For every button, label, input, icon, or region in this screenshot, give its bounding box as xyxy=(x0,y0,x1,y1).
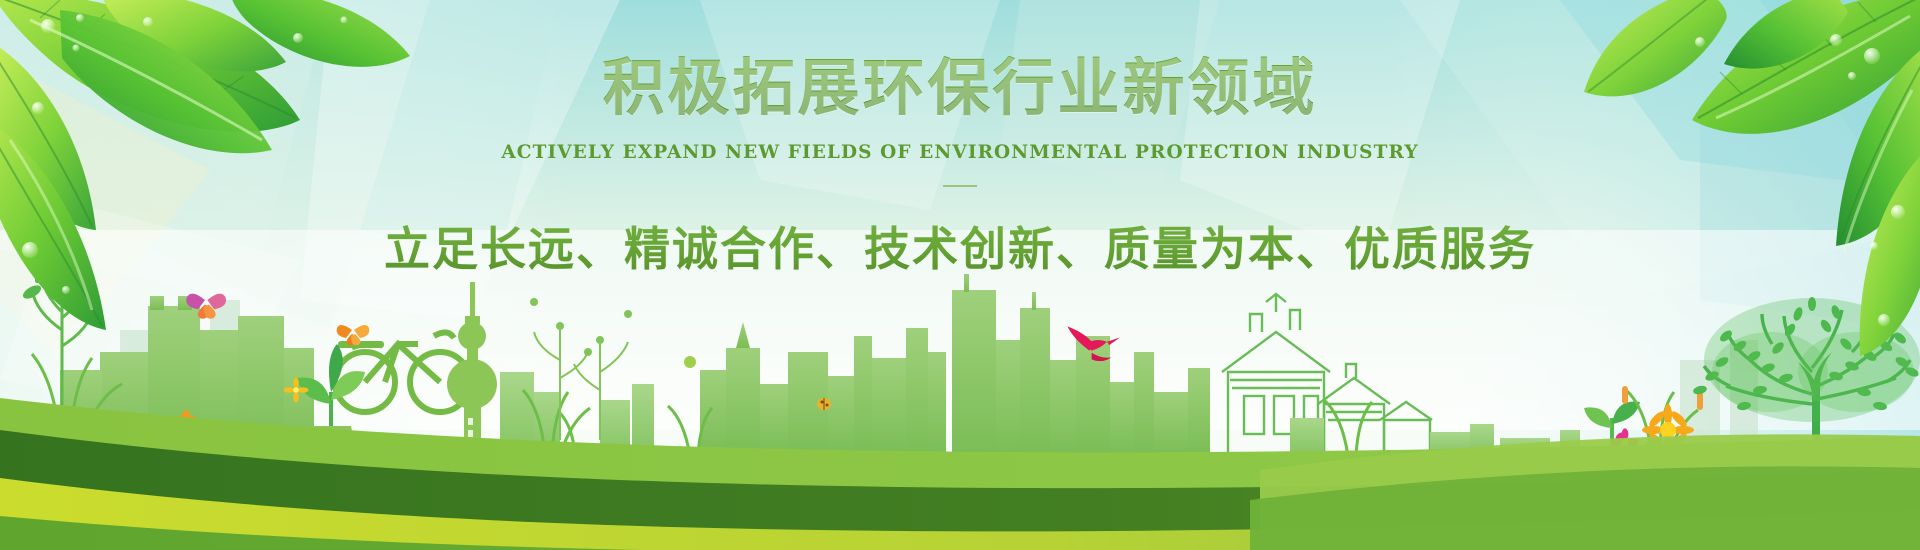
eco-banner: 积极拓展环保行业新领域 ACTIVELY EXPAND NEW FIELDS O… xyxy=(0,0,1920,550)
leaf-cluster-right xyxy=(1584,0,1920,356)
leaves-top-right xyxy=(0,0,1920,550)
